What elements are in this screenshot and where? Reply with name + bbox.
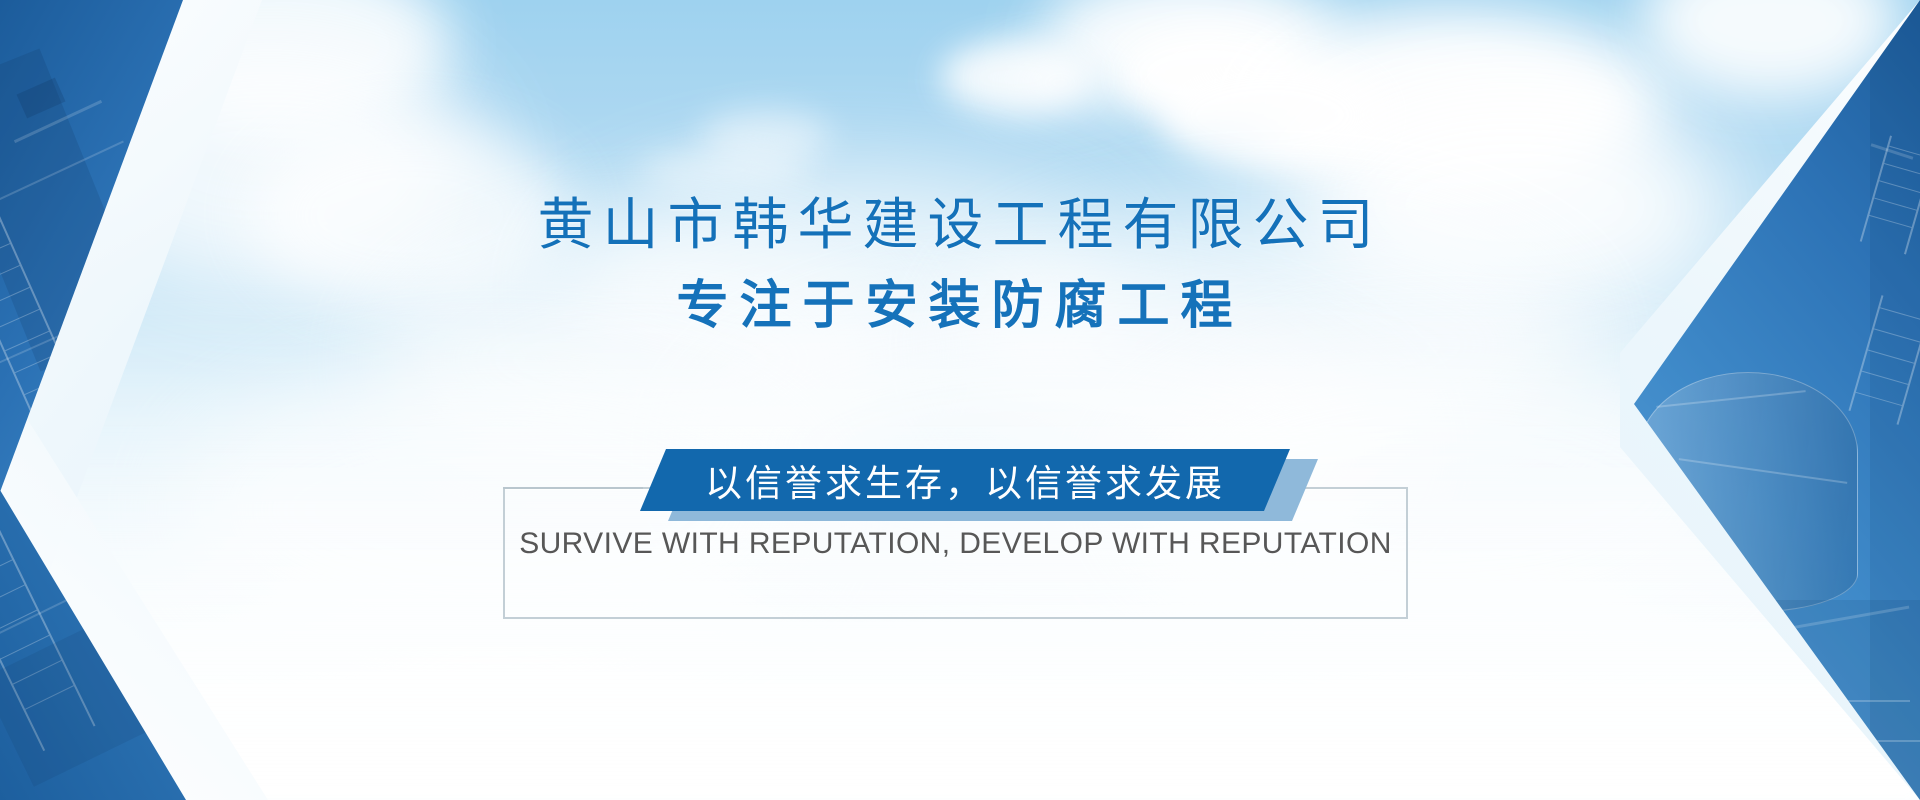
hero-banner: 黄山市韩华建设工程有限公司 专注于安装防腐工程 以信誉求生存，以信誉求发展 SU… xyxy=(0,0,1920,800)
company-title: 黄山市韩华建设工程有限公司 xyxy=(0,180,1920,261)
tagline: 专注于安装防腐工程 xyxy=(0,263,1920,338)
banner-content: 黄山市韩华建设工程有限公司 专注于安装防腐工程 以信誉求生存，以信誉求发展 SU… xyxy=(0,0,1920,800)
slogan-box-hairline xyxy=(503,487,643,489)
slogan-ribbon: 以信誉求生存，以信誉求发展 xyxy=(640,449,1300,511)
slogan-chinese: 以信誉求生存，以信誉求发展 xyxy=(640,449,1290,511)
slogan-english: SURVIVE WITH REPUTATION, DEVELOP WITH RE… xyxy=(503,527,1408,561)
